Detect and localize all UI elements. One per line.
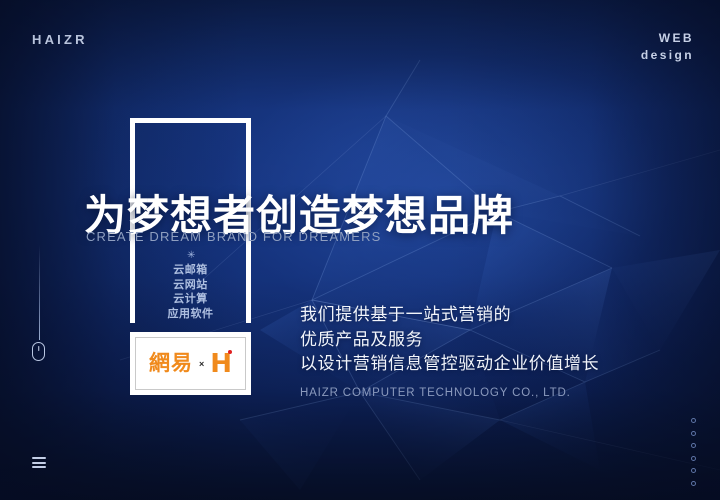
service-item-applications[interactable]: 应用软件	[135, 307, 246, 322]
slide-pager[interactable]	[691, 418, 696, 486]
mouse-wheel-icon	[38, 346, 40, 351]
marketing-copy-block: 我们提供基于一站式营销的 优质产品及服务 以设计营销信息管控驱动企业价值增长 H…	[300, 303, 599, 405]
tagline-line-1: WEB	[641, 30, 694, 47]
pager-dot-3[interactable]	[691, 443, 696, 448]
haizr-mark-dot	[228, 350, 232, 354]
copy-line-3: 以设计营销信息管控驱动企业价值增长	[300, 352, 599, 377]
logo-separator-x: ×	[199, 359, 204, 369]
service-item-cloud-website[interactable]: 云网站	[135, 278, 246, 293]
copy-line-2: 优质产品及服务	[300, 328, 599, 353]
frame-top-bar	[130, 118, 251, 123]
polygon-background	[0, 0, 720, 500]
netease-logo-text: 網易	[149, 353, 193, 374]
service-item-cloud-computing[interactable]: 云计算	[135, 292, 246, 307]
pager-dot-5[interactable]	[691, 468, 696, 473]
service-item-cloud-mail[interactable]: 云邮箱	[135, 263, 246, 278]
menu-bar-2	[32, 462, 46, 464]
hamburger-menu-icon[interactable]	[32, 457, 46, 468]
haizr-mark-icon: H	[210, 351, 232, 377]
scroll-guide-line	[39, 245, 40, 340]
pager-dot-4[interactable]	[691, 456, 696, 461]
pager-dot-2[interactable]	[691, 431, 696, 436]
brand-logo-text: HAIZR	[32, 32, 88, 47]
sparkle-icon: ✳	[187, 252, 195, 260]
partner-logo-card: 網易 × H	[130, 332, 251, 395]
pager-dot-6[interactable]	[691, 481, 696, 486]
partner-logo-inner: 網易 × H	[135, 337, 246, 390]
slide-canvas: HAIZR WEB design 为梦想者创造梦想品牌 CREATE DREAM…	[0, 0, 720, 500]
service-list: 云邮箱 云网站 云计算 应用软件	[135, 263, 246, 321]
header-tagline: WEB design	[641, 30, 694, 65]
page-subtitle: CREATE DREAM BRAND FOR DREAMERS	[86, 229, 381, 244]
menu-bar-3	[32, 466, 46, 468]
menu-bar-1	[32, 457, 46, 459]
tagline-line-2: design	[641, 47, 694, 64]
company-name-en: HAIZR COMPUTER TECHNOLOGY CO., LTD.	[300, 381, 599, 406]
edge-vignette	[0, 0, 720, 500]
copy-line-1: 我们提供基于一站式营销的	[300, 303, 599, 328]
pager-dot-1[interactable]	[691, 418, 696, 423]
mouse-scroll-icon[interactable]	[32, 342, 45, 361]
